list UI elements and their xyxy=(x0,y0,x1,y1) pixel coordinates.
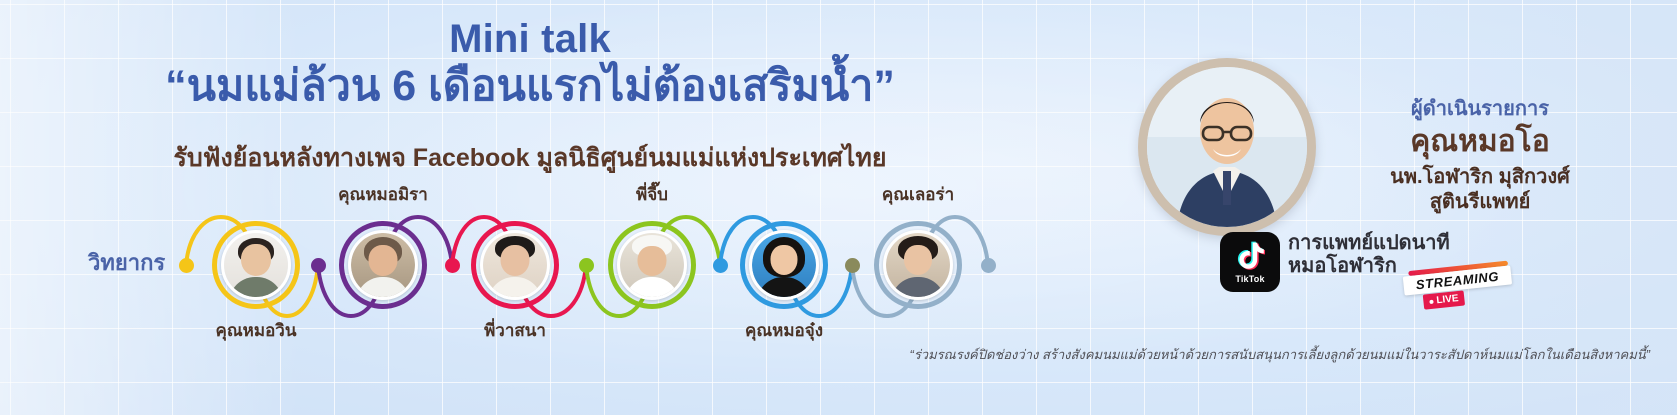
connector-dot xyxy=(981,258,996,273)
speaker-card[interactable]: คุณหมอจุ๋ง xyxy=(724,175,844,350)
host-portrait-illustration xyxy=(1147,67,1307,227)
breastfeeding-mini-talk-banner: Mini talk “นมแม่ล้วน 6 เดือนแรกไม่ต้องเส… xyxy=(0,0,1677,415)
tiktok-label: TikTok xyxy=(1235,274,1264,284)
footer-note: “ร่วมรณรงค์ปิดช่องว่าง สร้างสังคมนมแม่ด้… xyxy=(830,344,1650,365)
avatar xyxy=(617,230,687,300)
speaker-card[interactable]: คุณเลอร่า xyxy=(858,175,978,350)
speaker-avatar-ring xyxy=(874,221,962,309)
speaker-avatar-ring xyxy=(212,221,300,309)
speaker-name: คุณหมอมิรา xyxy=(338,181,428,208)
avatar xyxy=(348,230,418,300)
speaker-card[interactable]: คุณหมอมิรา xyxy=(323,175,443,350)
live-badge: LIVE xyxy=(1423,290,1466,309)
headline-line-1: Mini talk xyxy=(0,18,1060,60)
speaker-name: คุณเลอร่า xyxy=(882,181,954,208)
host-name: คุณหมอโอ xyxy=(1285,118,1675,165)
speaker-photo xyxy=(351,233,415,297)
host-photo-inner xyxy=(1147,67,1307,227)
avatar xyxy=(221,230,291,300)
speaker-card[interactable]: พี่วาสนา xyxy=(455,175,575,350)
speaker-avatar-ring xyxy=(339,221,427,309)
avatar xyxy=(883,230,953,300)
page-title: Mini talk “นมแม่ล้วน 6 เดือนแรกไม่ต้องเส… xyxy=(0,18,1060,110)
speaker-photo xyxy=(483,233,547,297)
headline-subtitle: รับฟังย้อนหลังทางเพจ Facebook มูลนิธิศูน… xyxy=(0,138,1060,178)
host-specialty: สูตินรีแพทย์ xyxy=(1285,185,1675,217)
tiktok-channel-line-1: การแพทย์แปดนาที xyxy=(1288,232,1450,255)
speakers-row: คุณหมอวิน คุณหมอมิรา xyxy=(0,175,1060,350)
speaker-name: พี่วาสนา xyxy=(484,317,546,344)
live-dot-icon xyxy=(1429,299,1433,303)
speaker-name: พี่จี๊บ xyxy=(636,181,668,208)
speaker-avatar-ring xyxy=(471,221,559,309)
tiktok-icon[interactable]: TikTok xyxy=(1220,232,1280,292)
speaker-name: คุณหมอวิน xyxy=(216,317,297,344)
connector-dot xyxy=(179,258,194,273)
speaker-avatar-ring xyxy=(740,221,828,309)
live-label: LIVE xyxy=(1436,293,1459,306)
speaker-photo xyxy=(886,233,950,297)
speaker-name: คุณหมอจุ๋ง xyxy=(745,317,823,344)
tiktok-note-glyph xyxy=(1235,241,1265,273)
speaker-avatar-ring xyxy=(608,221,696,309)
speaker-photo xyxy=(224,233,288,297)
speaker-photo xyxy=(620,233,684,297)
avatar xyxy=(749,230,819,300)
avatar xyxy=(480,230,550,300)
speaker-photo xyxy=(752,233,816,297)
speaker-card[interactable]: คุณหมอวิน xyxy=(196,175,316,350)
headline-line-2: “นมแม่ล้วน 6 เดือนแรกไม่ต้องเสริมน้ำ” xyxy=(0,64,1060,110)
speaker-card[interactable]: พี่จี๊บ xyxy=(592,175,712,350)
